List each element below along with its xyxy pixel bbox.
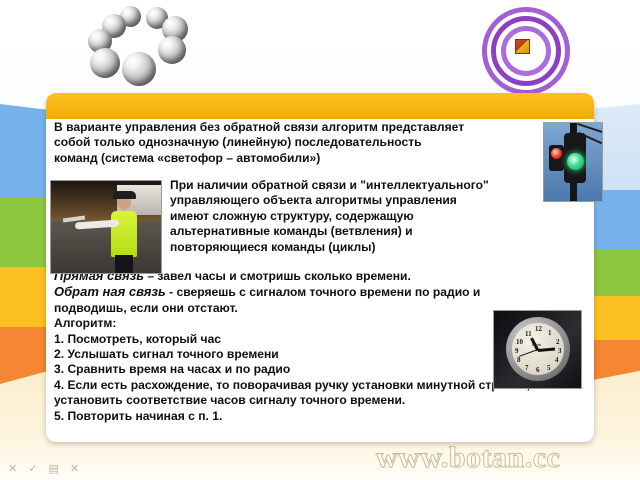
clock-numeral: 6	[536, 366, 540, 374]
clock-numeral: 1	[548, 329, 552, 337]
alarm-clock-photo: 12 1 2 3 4 5 6 7 8 9 10 11 Elgin	[493, 310, 582, 389]
watermark-text: www.botan.cc	[376, 441, 560, 475]
clock-numeral: 9	[515, 347, 519, 355]
layer-a-line-3: команд (система «светофор – автомобили»)	[54, 151, 574, 166]
algorithm-step: 4. Если есть расхождение, то поворачивая…	[54, 378, 554, 409]
ribbon-stripe-orange	[0, 327, 46, 384]
metal-spheres-icon	[86, 6, 190, 90]
layer-a-line-1: В варианте управления без обратной связи…	[54, 120, 574, 135]
feedback-line: Обрат ная связь - сверяешь с сигналом то…	[54, 284, 554, 316]
clock-numeral: 12	[535, 325, 542, 333]
layer-a-line-2: собой только однозначную (линейную) посл…	[54, 135, 574, 150]
layer-b-line-3: имеют сложную структуру, содержащую	[170, 209, 594, 224]
target-core	[515, 39, 530, 54]
algorithm-step: 5. Повторить начиная с п. 1.	[54, 409, 554, 424]
clock-numeral: 8	[517, 356, 521, 364]
direct-link-text: – завел часы и смотришь сколько времени.	[144, 269, 411, 283]
clock-numeral: 4	[555, 356, 559, 364]
card-title-bar	[46, 93, 594, 119]
clock-numeral: 11	[525, 330, 532, 338]
text-layer-c: Прямая связь – завел часы и смотришь ско…	[54, 268, 554, 424]
clock-numeral: 5	[547, 364, 551, 372]
card-body: В варианте управления без обратной связи…	[54, 120, 594, 440]
layer-b-line-1: При наличии обратной связи и "интеллекту…	[170, 178, 594, 193]
traffic-policeman-photo	[50, 180, 162, 274]
algorithm-step: 2. Услышать сигнал точного времени	[54, 347, 554, 362]
ribbon-stripe-yellow	[0, 267, 46, 327]
traffic-light-photo	[543, 122, 603, 202]
corner-glyphs: ✕ ✓ ▤ ✕	[8, 462, 83, 475]
algorithm-step: 1. Посмотреть, который час	[54, 332, 554, 347]
ribbon-stripe-blue	[0, 104, 46, 197]
layer-b-line-4: альтернативные команды (ветвления) и	[170, 224, 594, 239]
clock-numeral: 7	[525, 364, 529, 372]
text-layer-b: При наличии обратной связи и "интеллекту…	[170, 178, 594, 255]
clock-numeral: 2	[556, 338, 560, 346]
layer-b-line-5: повторяющиеся команды (циклы)	[170, 240, 594, 255]
left-color-ribbon	[0, 104, 46, 404]
purple-target-icon	[482, 4, 560, 88]
algorithm-heading: Алгоритм:	[54, 316, 554, 331]
feedback-label: Обрат ная связь	[54, 284, 166, 299]
clock-numeral: 3	[558, 347, 562, 355]
clock-numeral: 10	[516, 338, 523, 346]
layer-b-line-2: управляющего объекта алгоритмы управлени…	[170, 193, 594, 208]
algorithm-step: 3. Сравнить время на часах и по радио	[54, 362, 554, 377]
ribbon-stripe-green	[0, 197, 46, 267]
text-layer-a: В варианте управления без обратной связи…	[54, 120, 574, 166]
slide-canvas: botan n.cc В варианте управления без обр…	[0, 0, 640, 480]
